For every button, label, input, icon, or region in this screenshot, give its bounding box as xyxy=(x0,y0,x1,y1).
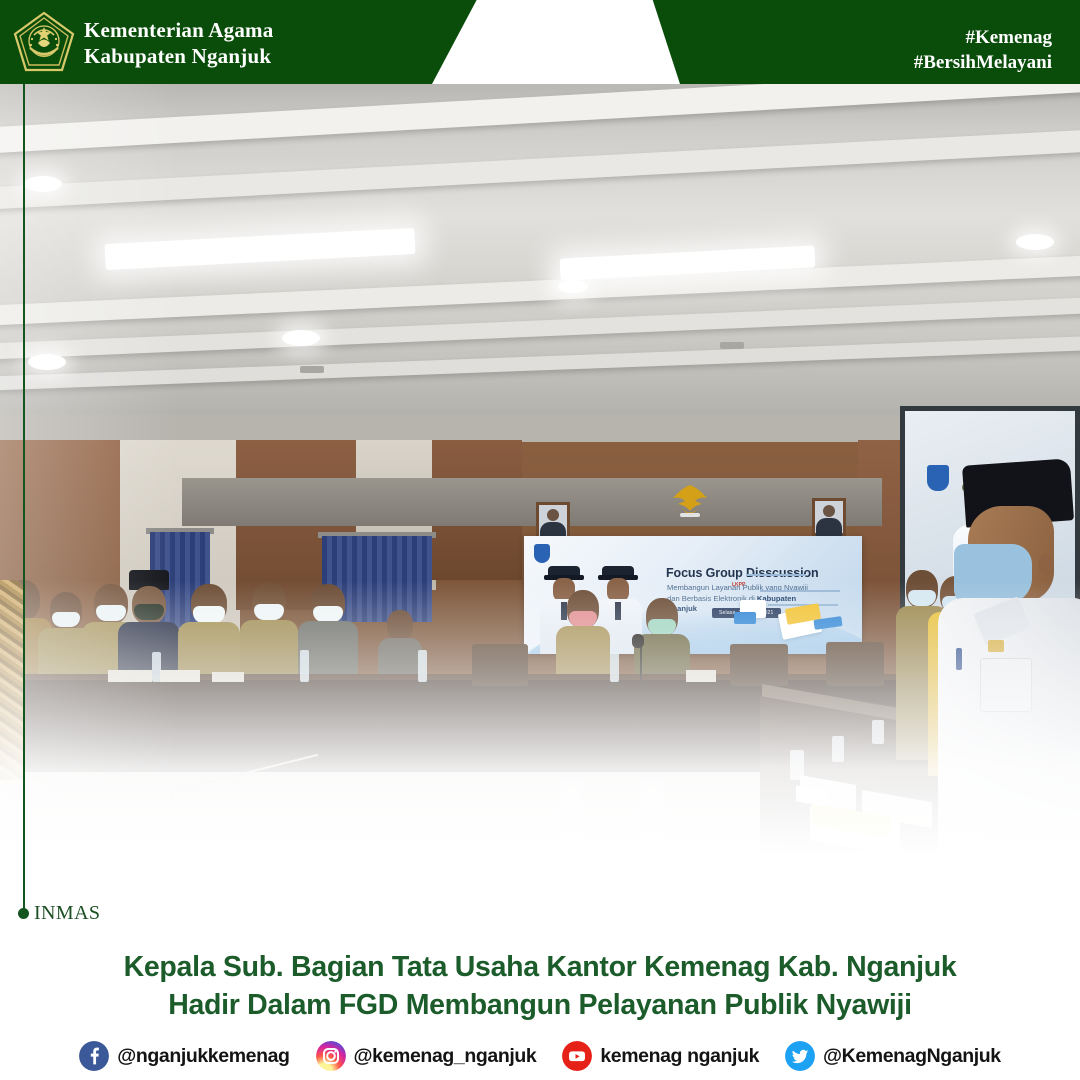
accent-vertical-rule xyxy=(23,84,25,910)
facebook-icon[interactable] xyxy=(79,1041,109,1071)
twitter-handle: @KemenagNganjuk xyxy=(823,1045,1001,1068)
hashtag-kemenag: #Kemenag xyxy=(914,25,1052,50)
kemenag-pentagon-emblem-icon xyxy=(12,10,76,74)
social-item-twitter[interactable]: @KemenagNganjuk xyxy=(785,1041,1001,1071)
social-item-instagram[interactable]: @kemenag_nganjuk xyxy=(316,1041,537,1071)
accent-dot xyxy=(18,908,29,919)
poster-canvas: Kementerian Agama Kabupaten Nganjuk #Kem… xyxy=(0,0,1080,1080)
hashtag-block: #Kemenag #BersihMelayani xyxy=(914,25,1052,75)
instagram-handle: @kemenag_nganjuk xyxy=(354,1045,537,1068)
caption-line-1: Kepala Sub. Bagian Tata Usaha Kantor Kem… xyxy=(0,948,1080,986)
brand-title: Kementerian Agama Kabupaten Nganjuk xyxy=(84,17,273,69)
brand-line-2: Kabupaten Nganjuk xyxy=(84,43,273,69)
youtube-handle: kemenag nganjuk xyxy=(600,1045,759,1068)
caption-line-2: Hadir Dalam FGD Membangun Pelayanan Publ… xyxy=(0,986,1080,1024)
social-footer: @nganjukkemenag @kemenag_nganjuk xyxy=(0,1032,1080,1080)
header-white-wedge xyxy=(432,0,680,84)
facebook-handle: @nganjukkemenag xyxy=(117,1045,289,1068)
caption-block: Kepala Sub. Bagian Tata Usaha Kantor Kem… xyxy=(0,948,1080,1024)
social-item-youtube[interactable]: kemenag nganjuk xyxy=(562,1041,759,1071)
hashtag-bersihmelayani: #BersihMelayani xyxy=(914,50,1052,75)
twitter-icon[interactable] xyxy=(785,1041,815,1071)
social-item-facebook[interactable]: @nganjukkemenag xyxy=(79,1041,289,1071)
header-bar: Kementerian Agama Kabupaten Nganjuk #Kem… xyxy=(0,0,1080,84)
youtube-icon[interactable] xyxy=(562,1041,592,1071)
brand-line-1: Kementerian Agama xyxy=(84,17,273,43)
photo-left-fade xyxy=(0,84,180,940)
instagram-icon[interactable] xyxy=(316,1041,346,1071)
photo-credit-label: INMAS xyxy=(34,902,100,925)
